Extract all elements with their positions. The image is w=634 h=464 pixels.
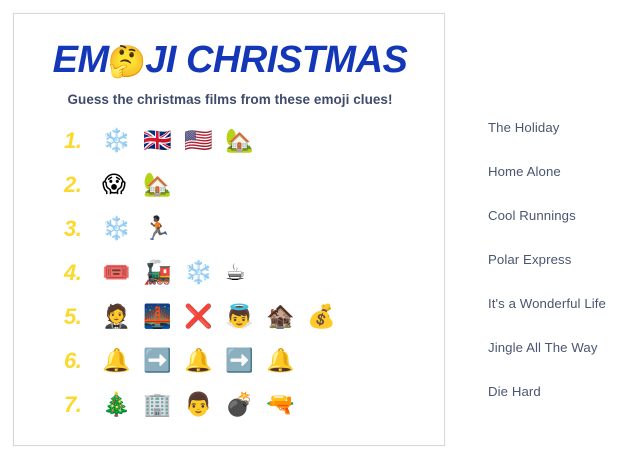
hot-beverage-emoji: ☕ — [225, 262, 266, 285]
derelict-house-emoji: 🏚️ — [266, 306, 307, 329]
bell-emoji: 🔔 — [102, 350, 143, 373]
right-arrow-emoji: ➡️ — [225, 350, 266, 373]
clue-row: 7.🎄🏢👨💣🔫 — [14, 383, 446, 427]
clue-row-number: 4. — [64, 262, 104, 284]
clue-row-number: 5. — [64, 306, 104, 328]
emoji-clue-list: 🎟️🚂❄️☕ — [102, 262, 266, 285]
clue-row-number: 7. — [64, 394, 104, 416]
screaming-face-emoji: 😱 — [102, 174, 143, 197]
clue-row: 3.❄️🏃🏿 — [14, 207, 446, 251]
clue-row: 1.❄️🇬🇧🇺🇸🏡 — [14, 119, 446, 163]
answer-item: Die Hard — [488, 369, 634, 413]
us-flag-emoji: 🇺🇸 — [184, 130, 225, 153]
page-title: EM🤔JI CHRISTMAS — [14, 41, 446, 79]
baby-angel-emoji: 👼 — [225, 306, 266, 329]
quiz-card: EM🤔JI CHRISTMAS Guess the christmas film… — [13, 13, 445, 446]
clue-row-number: 3. — [64, 218, 104, 240]
snowflake-emoji: ❄️ — [184, 262, 225, 285]
emoji-clue-list: 😱🏡 — [102, 174, 184, 197]
uk-flag-emoji: 🇬🇧 — [143, 130, 184, 153]
snowflake-emoji: ❄️ — [102, 130, 143, 153]
snowflake-emoji: ❄️ — [102, 218, 143, 241]
thinking-face-icon: 🤔 — [108, 46, 147, 77]
bell-emoji: 🔔 — [184, 350, 225, 373]
answer-item: Home Alone — [488, 149, 634, 193]
answer-item: Jingle All The Way — [488, 325, 634, 369]
house-with-garden-emoji: 🏡 — [225, 130, 266, 153]
clue-row: 5.🤵🌉❌👼🏚️💰 — [14, 295, 446, 339]
locomotive-emoji: 🚂 — [143, 262, 184, 285]
man-emoji: 👨 — [184, 394, 225, 417]
answer-item: Cool Runnings — [488, 193, 634, 237]
subtitle: Guess the christmas films from these emo… — [14, 92, 446, 107]
emoji-clue-list: 🤵🌉❌👼🏚️💰 — [102, 306, 348, 329]
bridge-at-night-emoji: 🌉 — [143, 306, 184, 329]
admission-tickets-emoji: 🎟️ — [102, 262, 143, 285]
house-with-garden-emoji: 🏡 — [143, 174, 184, 197]
answer-item: The Holiday — [488, 105, 634, 149]
running-person-emoji: 🏃🏿 — [143, 218, 184, 241]
emoji-clue-list: 🔔➡️🔔➡️🔔 — [102, 350, 307, 373]
answers-list: The HolidayHome AloneCool RunningsPolar … — [488, 105, 634, 413]
bomb-emoji: 💣 — [225, 394, 266, 417]
emoji-clue-list: 🎄🏢👨💣🔫 — [102, 394, 307, 417]
right-arrow-emoji: ➡️ — [143, 350, 184, 373]
christmas-tree-emoji: 🎄 — [102, 394, 143, 417]
clue-row: 4.🎟️🚂❄️☕ — [14, 251, 446, 295]
clue-row: 6.🔔➡️🔔➡️🔔 — [14, 339, 446, 383]
office-building-emoji: 🏢 — [143, 394, 184, 417]
emoji-clue-list: ❄️🏃🏿 — [102, 218, 184, 241]
money-bag-emoji: 💰 — [307, 306, 348, 329]
clue-rows: 1.❄️🇬🇧🇺🇸🏡2.😱🏡3.❄️🏃🏿4.🎟️🚂❄️☕5.🤵🌉❌👼🏚️💰6.🔔➡… — [14, 119, 446, 427]
cross-mark-emoji: ❌ — [184, 306, 225, 329]
answer-item: Polar Express — [488, 237, 634, 281]
clue-row-number: 1. — [64, 130, 104, 152]
bell-emoji: 🔔 — [266, 350, 307, 373]
title-text-after: JI CHRISTMAS — [145, 41, 407, 79]
clue-row-number: 2. — [64, 174, 104, 196]
pistol-emoji: 🔫 — [266, 394, 307, 417]
title-text-before: EM — [53, 41, 109, 79]
man-in-tuxedo-emoji: 🤵 — [102, 306, 143, 329]
emoji-clue-list: ❄️🇬🇧🇺🇸🏡 — [102, 130, 266, 153]
answer-item: It's a Wonderful Life — [488, 281, 634, 325]
clue-row: 2.😱🏡 — [14, 163, 446, 207]
clue-row-number: 6. — [64, 350, 104, 372]
